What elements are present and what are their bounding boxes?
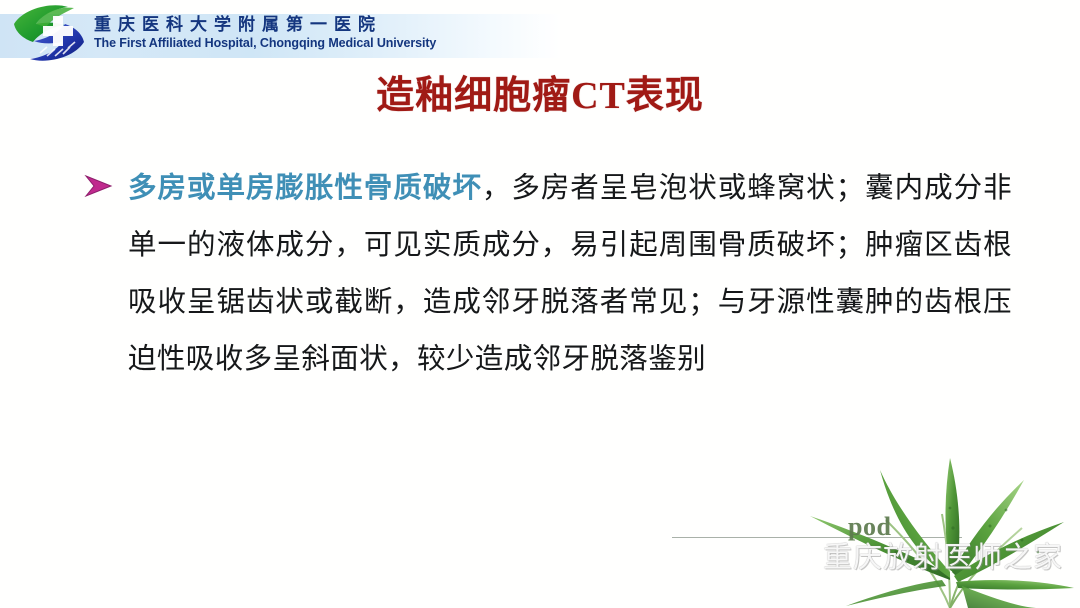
hospital-name-cn: 重庆医科大学附属第一医院	[94, 15, 492, 35]
presentation-slide: 重庆医科大学附属第一医院 The First Affiliated Hospit…	[0, 0, 1080, 608]
hospital-name-block: 重庆医科大学附属第一医院 The First Affiliated Hospit…	[92, 14, 492, 58]
paragraph-text: 多房或单房膨胀性骨质破坏，多房者呈皂泡状或蜂窝状；囊内成分非单一的液体成分，可见…	[128, 160, 1012, 388]
pod-watermark-text: pod	[848, 513, 891, 541]
horizontal-rule	[672, 537, 962, 538]
page-title: 造釉细胞瘤CT表现	[0, 72, 1080, 120]
wechat-watermark: 重庆放射医师之家	[775, 542, 1063, 574]
bullet-list-item: 多房或单房膨胀性骨质破坏，多房者呈皂泡状或蜂窝状；囊内成分非单一的液体成分，可见…	[82, 160, 1012, 388]
arrowhead-bullet-icon	[84, 174, 114, 198]
wechat-watermark-label: 重庆放射医师之家	[823, 542, 1063, 574]
paragraph-highlight: 多房或单房膨胀性骨质破坏	[128, 173, 482, 204]
content-body: 多房或单房膨胀性骨质破坏，多房者呈皂泡状或蜂窝状；囊内成分非单一的液体成分，可见…	[82, 160, 1012, 388]
hospital-caduceus-cross-logo	[6, 2, 98, 64]
hospital-name-en: The First Affiliated Hospital, Chongqing…	[94, 36, 492, 51]
wechat-logo-icon	[775, 542, 815, 574]
